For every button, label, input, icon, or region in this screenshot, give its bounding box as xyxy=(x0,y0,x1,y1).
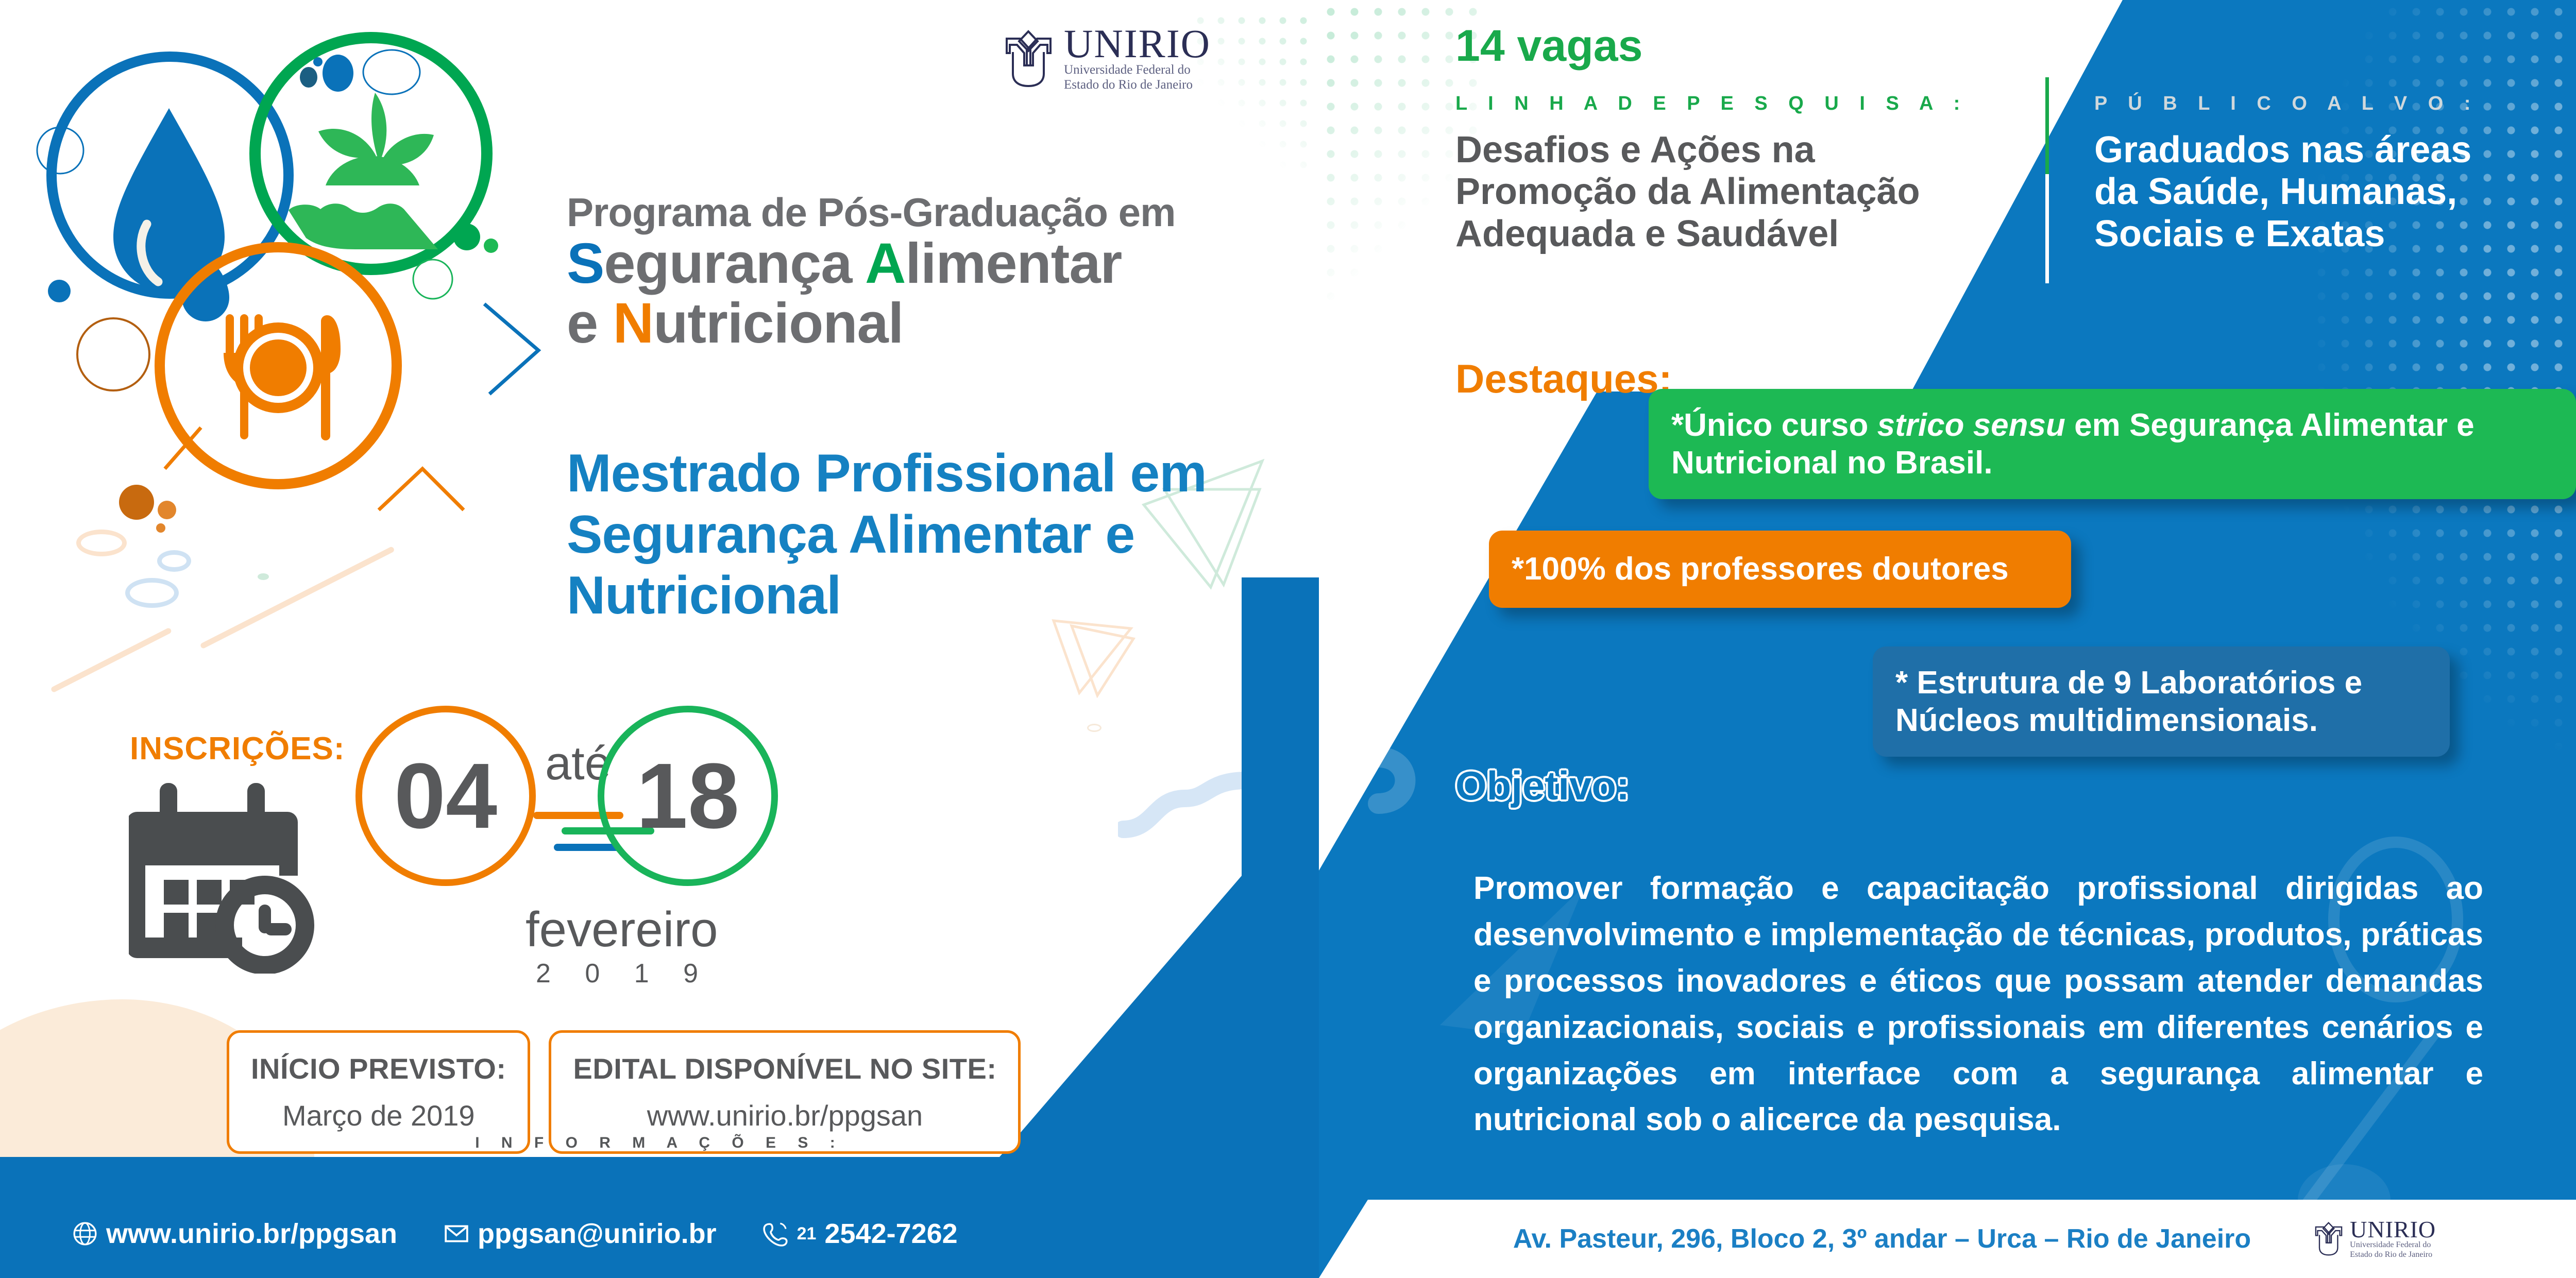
highlight-green-pre: *Único curso xyxy=(1671,407,1877,443)
info-box-edital-value[interactable]: www.unirio.br/ppgsan xyxy=(573,1099,996,1132)
deco-dot-green-sm xyxy=(484,238,498,253)
column-divider xyxy=(2045,77,2049,283)
deco-triangle-cream-1 xyxy=(1048,616,1136,698)
dash-blue xyxy=(554,844,621,851)
headline-e-word: e xyxy=(567,292,613,355)
blue-vertical-band xyxy=(1242,577,1319,969)
highlight-blue-text: * Estrutura de 9 Laboratórios e Núcleos … xyxy=(1895,665,2362,738)
deco-dot-orange-sm xyxy=(156,523,165,533)
publico-body: Graduados nas áreas da Saúde, Humanas, S… xyxy=(2094,129,2576,255)
deco-dot-blue-med xyxy=(323,55,353,92)
headline-pretitle: Programa de Pós-Graduação em xyxy=(567,191,1236,234)
blue-triangle-right xyxy=(999,786,1319,1157)
program-headline: Programa de Pós-Graduação em Segurança A… xyxy=(567,191,1236,353)
headline-n-letter: N xyxy=(613,292,653,355)
calendar-clock-icon xyxy=(129,773,325,974)
contact-phone-prefix: 21 xyxy=(797,1224,817,1244)
unirio-footer-line2: Estado do Rio de Janeiro xyxy=(2350,1250,2436,1259)
headline-a-letter: A xyxy=(865,232,905,295)
headline-s-letter: S xyxy=(567,232,604,295)
highlight-bubble-green: *Único curso strico sensu em Segurança A… xyxy=(1649,389,2576,499)
contact-phone-text: 2542-7262 xyxy=(824,1218,957,1250)
cream-diagonal-line-2 xyxy=(200,546,395,649)
deco-dot-orange-med xyxy=(158,501,176,519)
unirio-logo-text: UNIRIO Universidade Federal do Estado do… xyxy=(1064,25,1211,93)
unirio-name: UNIRIO xyxy=(1064,25,1211,63)
info-box-inicio-value: Março de 2019 xyxy=(251,1099,506,1132)
course-subtitle-line-3: Nutricional xyxy=(567,565,1211,626)
unirio-mark-icon xyxy=(1002,28,1056,89)
unirio-footer-text: UNIRIO Universidade Federal do Estado do… xyxy=(2350,1218,2436,1259)
deco-ring-lightblue-1 xyxy=(157,550,191,572)
objetivo-text: Promover formação e capacitação profissi… xyxy=(1473,865,2483,1143)
highlight-green-em: strico sensu xyxy=(1877,407,2065,443)
course-subtitle-line-2: Segurança Alimentar e xyxy=(567,504,1211,566)
linha-de-pesquisa-block: L I N H A D E P E S Q U I S A : Desafios… xyxy=(1455,93,2022,255)
unirio-footer-name: UNIRIO xyxy=(2350,1218,2436,1241)
linha-line-2: Promoção da Alimentação xyxy=(1455,171,2022,213)
address-text: Av. Pasteur, 296, Bloco 2, 3º andar – Ur… xyxy=(1513,1223,2251,1254)
highlight-orange-text: *100% dos professores doutores xyxy=(1512,550,2009,588)
unirio-logo-footer: UNIRIO Universidade Federal do Estado do… xyxy=(2313,1218,2436,1259)
contact-email[interactable]: ppgsan@unirio.br xyxy=(444,1218,717,1250)
date-start-circle: 04 xyxy=(355,706,536,886)
destaques-label: Destaques: xyxy=(1455,355,1672,402)
deco-ring-lightblue-2 xyxy=(125,578,179,608)
contact-website[interactable]: www.unirio.br/ppgsan xyxy=(72,1218,397,1250)
linha-body: Desafios e Ações na Promoção da Alimenta… xyxy=(1455,129,2022,255)
headline-seguranca: egurança xyxy=(604,232,865,295)
course-subtitle-line-1: Mestrado Profissional em xyxy=(567,443,1211,504)
deco-dot-blue xyxy=(48,280,71,302)
deco-dot-lightgreen xyxy=(258,573,269,580)
headline-utricional: utricional xyxy=(653,292,903,355)
phone-icon xyxy=(763,1221,789,1247)
deco-chevron-orange xyxy=(379,469,464,510)
deco-dot-brown xyxy=(119,485,154,520)
unirio-sub-line1: Universidade Federal do xyxy=(1064,63,1211,78)
linha-label: L I N H A D E P E S Q U I S A : xyxy=(1455,93,2022,115)
deco-dot-navy xyxy=(300,67,317,88)
headline-limentar: limentar xyxy=(905,232,1122,295)
unirio-sub-line2: Estado do Rio de Janeiro xyxy=(1064,78,1211,93)
objetivo-label: Objetivo: xyxy=(1455,762,1630,809)
deco-ring-tiny-cream xyxy=(1087,724,1101,732)
highlight-bubble-blue: * Estrutura de 9 Laboratórios e Núcleos … xyxy=(1873,646,2450,757)
unirio-logo: UNIRIO Universidade Federal do Estado do… xyxy=(1002,25,1211,93)
deco-ring-brown xyxy=(77,318,149,390)
course-subtitle: Mestrado Profissional em Segurança Alime… xyxy=(567,443,1211,626)
deco-dot-green-med xyxy=(453,224,480,250)
informacoes-label: I N F O R M A Ç Õ E S : xyxy=(0,1134,1319,1152)
right-panel: 14 vagas L I N H A D E P E S Q U I S A :… xyxy=(1319,0,2576,1278)
deco-ring-green-sm xyxy=(413,260,452,299)
poster-root: UNIRIO Universidade Federal do Estado do… xyxy=(0,0,2576,1278)
inscription-period: 04 até 18 fevereiro 2 0 1 9 xyxy=(355,706,902,994)
deco-wave-shape xyxy=(1118,768,1257,845)
deco-chevron-blue xyxy=(484,304,538,394)
plate-cutlery-icon xyxy=(224,314,341,440)
highlight-bubble-orange: *100% dos professores doutores xyxy=(1489,531,2071,608)
plant-in-hand-icon xyxy=(289,93,438,249)
date-year: 2 0 1 9 xyxy=(536,958,711,989)
contact-website-text: www.unirio.br/ppgsan xyxy=(106,1218,397,1250)
publico-alvo-block: P Ú B L I C O A L V O : Graduados nas ár… xyxy=(2094,93,2576,255)
headline-line-1: Segurança Alimentar xyxy=(567,234,1236,294)
linha-line-1: Desafios e Ações na xyxy=(1455,129,2022,171)
publico-label: P Ú B L I C O A L V O : xyxy=(2094,93,2576,115)
info-box-inicio-title: INÍCIO PREVISTO: xyxy=(251,1052,506,1085)
footer-contacts: www.unirio.br/ppgsan ppgsan@unirio.br 21… xyxy=(0,1218,1236,1250)
linha-line-3: Adequada e Saudável xyxy=(1455,213,2022,255)
left-panel: UNIRIO Universidade Federal do Estado do… xyxy=(0,0,1319,1278)
unirio-mark-icon-footer xyxy=(2313,1220,2345,1257)
date-end-circle: 18 xyxy=(598,706,778,886)
vagas-count: 14 vagas xyxy=(1455,21,1642,72)
headline-line-2: e Nutricional xyxy=(567,294,1236,353)
publico-line-1: Graduados nas áreas xyxy=(2094,129,2576,171)
globe-icon xyxy=(72,1221,98,1247)
publico-line-3: Sociais e Exatas xyxy=(2094,213,2576,255)
contact-email-text: ppgsan@unirio.br xyxy=(478,1218,717,1250)
info-box-edital-title: EDITAL DISPONÍVEL NO SITE: xyxy=(573,1052,996,1085)
food-security-illustration xyxy=(31,15,556,541)
right-footer: Av. Pasteur, 296, Bloco 2, 3º andar – Ur… xyxy=(1319,1200,2576,1278)
date-month: fevereiro xyxy=(526,901,718,958)
mail-icon xyxy=(444,1221,469,1247)
publico-line-2: da Saúde, Humanas, xyxy=(2094,171,2576,213)
contact-phone[interactable]: 21 2542-7262 xyxy=(763,1218,958,1250)
unirio-footer-line1: Universidade Federal do xyxy=(2350,1240,2436,1250)
cream-diagonal-line-1 xyxy=(50,627,173,693)
inscricoes-label: INSCRIÇÕES: xyxy=(130,730,345,767)
deco-ring-blue xyxy=(363,50,420,94)
